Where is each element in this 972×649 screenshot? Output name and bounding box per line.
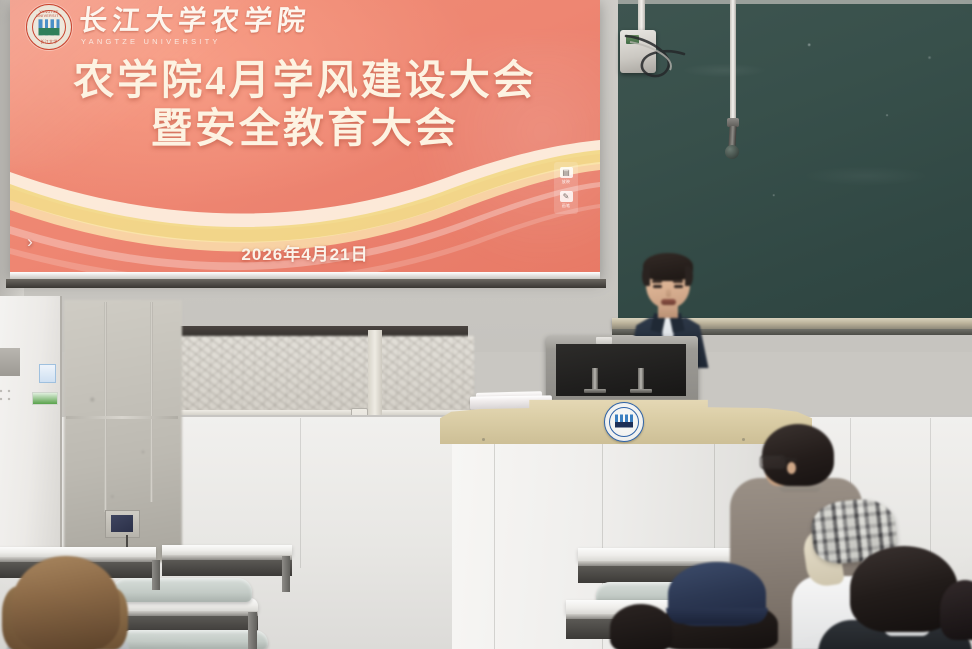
microphone-rod [730, 0, 736, 120]
audience-front-left-hair [12, 556, 120, 649]
cabinet-green-label [32, 392, 58, 405]
seal-arc-bottom-text: 长江大学 [27, 39, 71, 45]
projection-screen: YANGTZE UNIVERSITY 长江大学 长江大学农学院 YANGTZE … [10, 0, 600, 280]
university-name-cn: 长江大学农学院 [78, 8, 312, 36]
slideshow-tool[interactable]: ▤ 放映 [560, 165, 573, 187]
beanie-band [666, 608, 768, 624]
screen-bottom-bar [6, 279, 606, 288]
monitor-stand-right [638, 368, 644, 390]
pen-tool-label: 画笔 [562, 203, 570, 209]
pen-annotate-icon[interactable]: ✎ [560, 191, 573, 202]
yangtze-university-seal-icon: YANGTZE UNIVERSITY 长江大学 [26, 4, 72, 50]
slide-title-block: 农学院4月学风建设大会 暨安全教育大会 [10, 58, 600, 152]
slide-header: YANGTZE UNIVERSITY 长江大学 长江大学农学院 YANGTZE … [26, 4, 310, 50]
screen-bottom-frame [10, 272, 600, 279]
audience-glasses-ear [787, 462, 796, 474]
wall-pipe [104, 302, 107, 512]
audience-member-center-low [610, 604, 672, 649]
ceiling-cable [612, 24, 732, 94]
monitor-base-right [630, 389, 652, 393]
presentation-toolbar[interactable]: ▤ 放映 ✎ 画笔 [554, 162, 578, 214]
desk-leg [248, 612, 257, 649]
monitor-screen [556, 344, 686, 396]
slide-date: 2026年4月21日 [10, 240, 600, 265]
wall-seam [930, 418, 931, 568]
desk-row-left-back [0, 547, 156, 557]
cabinet-blue-label [39, 364, 56, 383]
desk-leg [282, 556, 290, 592]
presenter-eye-right [674, 285, 683, 288]
seal-emblem-graphic [39, 19, 60, 35]
presenter-nose [666, 289, 671, 297]
presenter-hair-right [685, 266, 693, 286]
slide-title-line-1: 农学院4月学风建设大会 [10, 58, 600, 102]
slide-title-line-2: 暨安全教育大会 [10, 106, 600, 152]
seal-arc-top-text: YANGTZE UNIVERSITY [27, 10, 71, 18]
desk-leg [152, 560, 160, 590]
slideshow-icon[interactable]: ▤ [560, 167, 573, 178]
lecture-hall-photo: YANGTZE UNIVERSITY 长江大学 长江大学农学院 YANGTZE … [0, 0, 972, 649]
presenter-eye-left [653, 285, 662, 288]
wall-pipe-horizontal [66, 416, 178, 419]
slideshow-tool-label: 放映 [562, 179, 570, 185]
av-equipment-cabinet[interactable] [0, 296, 62, 562]
university-name-en: YANGTZE UNIVERSITY [81, 38, 310, 46]
wall-seam [300, 418, 301, 568]
monitor-brand-label [596, 337, 612, 344]
wall-pipe [150, 302, 153, 502]
emblem-graphic [615, 415, 633, 428]
presenter-brow-left [652, 280, 662, 283]
pen-annotate-tool[interactable]: ✎ 画笔 [560, 189, 573, 211]
monitor-base-left [584, 389, 606, 393]
cabinet-vent [0, 348, 20, 376]
chalkboard-top-frame [618, 0, 972, 4]
presenter-hair-left [642, 266, 650, 286]
chevron-right-icon[interactable]: › [22, 232, 38, 252]
seat-left-row-front[interactable] [118, 630, 268, 649]
desk-row-left-mid [162, 545, 292, 555]
university-wordmark: 长江大学农学院 YANGTZE UNIVERSITY [79, 8, 310, 46]
presentation-slide: YANGTZE UNIVERSITY 长江大学 长江大学农学院 YANGTZE … [10, 0, 600, 280]
textured-stone-wall-panel [178, 336, 474, 412]
wall-control-panel[interactable] [105, 510, 140, 538]
presenter-brow-right [673, 280, 683, 283]
monitor-stand-left [592, 368, 598, 390]
desk-underside [162, 560, 292, 576]
presenter-mouth [661, 299, 676, 305]
hanging-microphone [725, 145, 739, 159]
seat-left-row[interactable] [112, 578, 252, 602]
cabinet-buttons[interactable] [0, 388, 16, 406]
yangtze-university-emblem-icon [604, 402, 644, 442]
